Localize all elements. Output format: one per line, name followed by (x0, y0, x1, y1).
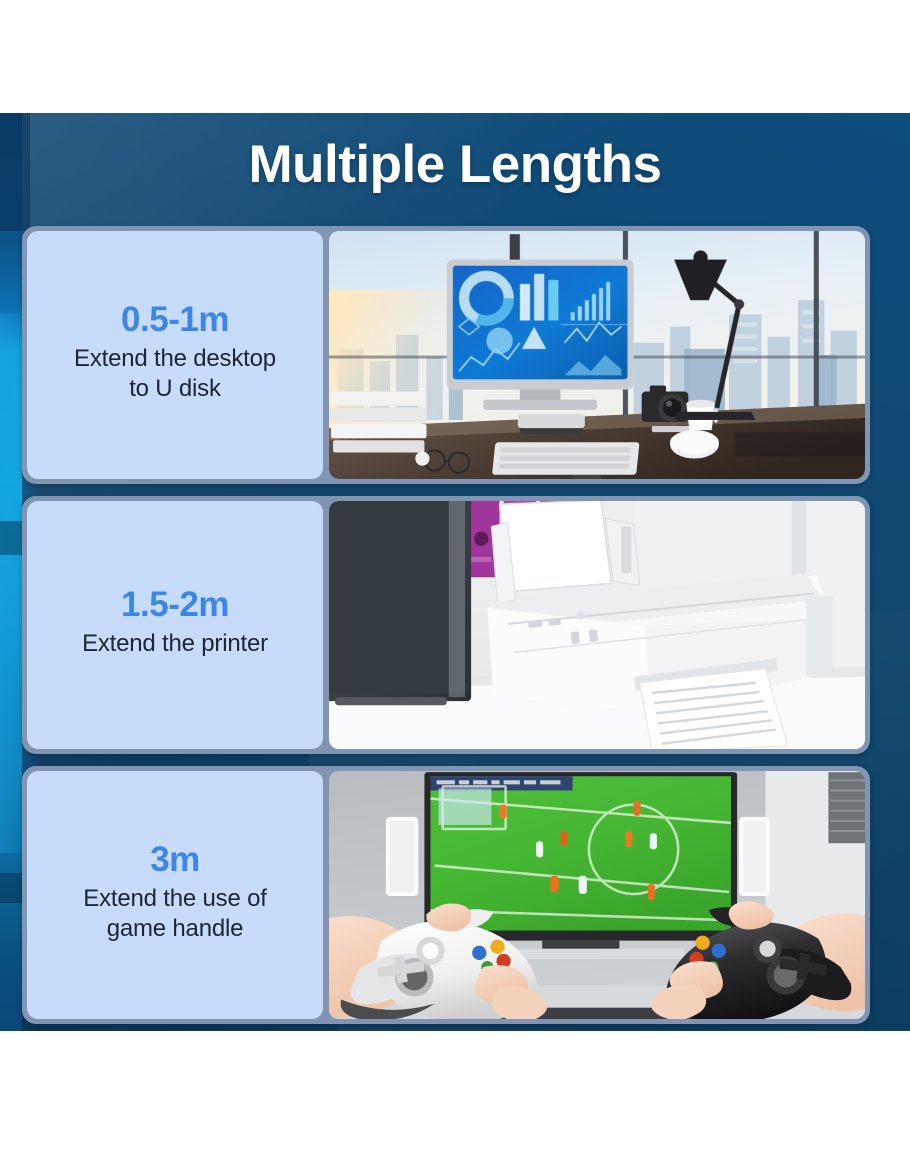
card-description-line2-0: to U disk (74, 374, 276, 405)
page-title: Multiple Lengths (0, 137, 910, 193)
feature-card-list: 0.5-1m Extend the desktop to U disk (22, 226, 870, 1024)
card-description-line1-2: Extend the use of (83, 884, 266, 915)
card-length-1: 1.5-2m (121, 586, 229, 625)
card-length-0: 0.5-1m (121, 301, 229, 340)
feature-card-2[interactable]: 3m Extend the use of game handle (22, 766, 870, 1024)
card-text-panel-0: 0.5-1m Extend the desktop to U disk (27, 231, 323, 479)
card-description-line1-1: Extend the printer (82, 629, 268, 660)
card-text-panel-1: 1.5-2m Extend the printer (27, 501, 323, 749)
card-length-2: 3m (150, 841, 200, 880)
feature-card-1[interactable]: 1.5-2m Extend the printer (22, 496, 870, 754)
card-description-line2-2: game handle (83, 914, 266, 945)
left-edge-glow (0, 113, 22, 1031)
feature-card-0[interactable]: 0.5-1m Extend the desktop to U disk (22, 226, 870, 484)
game-controllers-tv-photo (329, 771, 865, 1019)
gaming-scene-illustration (329, 771, 865, 1019)
card-description-2: Extend the use of game handle (83, 884, 266, 945)
white-inkjet-printer-photo (329, 501, 865, 749)
card-description-1: Extend the printer (82, 629, 268, 660)
card-description-line1-0: Extend the desktop (74, 344, 276, 375)
printer-scene-illustration (329, 501, 865, 749)
card-text-panel-2: 3m Extend the use of game handle (27, 771, 323, 1019)
card-description-0: Extend the desktop to U disk (74, 344, 276, 405)
office-desk-monitor-photo (329, 231, 865, 479)
product-feature-image: Multiple Lengths 0.5-1m Extend the deskt… (0, 0, 910, 1155)
office-desk-scene-illustration (329, 231, 865, 479)
